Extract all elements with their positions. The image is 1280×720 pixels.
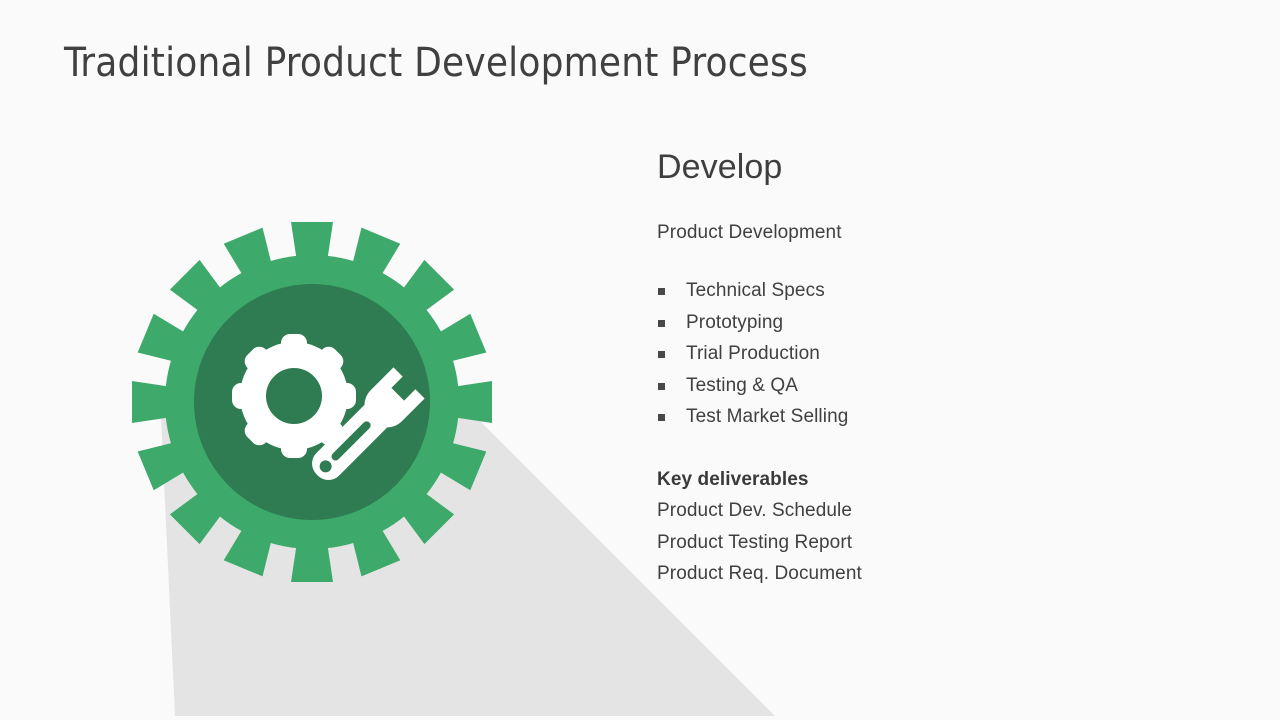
list-item-label: Testing & QA — [686, 375, 798, 396]
step-heading: Develop — [657, 148, 1217, 187]
bullet-square-icon — [658, 414, 665, 421]
list-item: Testing & QA — [657, 370, 1217, 402]
content-column: Develop Product Development Technical Sp… — [657, 148, 1217, 590]
list-item: Trial Production — [657, 338, 1217, 370]
list-item: Technical Specs — [657, 275, 1217, 307]
bullet-square-icon — [658, 320, 665, 327]
slide-canvas: Traditional Product Development Process — [0, 0, 1280, 720]
list-item-label: Prototyping — [686, 312, 783, 333]
deliverable-item: Product Dev. Schedule — [657, 495, 1217, 527]
bullet-square-icon — [658, 351, 665, 358]
deliverable-item: Product Req. Document — [657, 558, 1217, 590]
list-item-label: Trial Production — [686, 343, 820, 364]
list-item: Prototyping — [657, 307, 1217, 339]
deliverables-title: Key deliverables — [657, 464, 1217, 496]
deliverable-item: Product Testing Report — [657, 527, 1217, 559]
bullet-square-icon — [658, 383, 665, 390]
list-item-label: Test Market Selling — [686, 406, 848, 427]
step-subtitle: Product Development — [657, 222, 1217, 244]
deliverables-block: Key deliverables Product Dev. Schedule P… — [657, 464, 1217, 590]
gear-icon — [132, 222, 492, 582]
list-item: Test Market Selling — [657, 401, 1217, 433]
bullet-square-icon — [658, 288, 665, 295]
list-item-label: Technical Specs — [686, 280, 825, 301]
task-list: Technical Specs Prototyping Trial Produc… — [657, 275, 1217, 433]
